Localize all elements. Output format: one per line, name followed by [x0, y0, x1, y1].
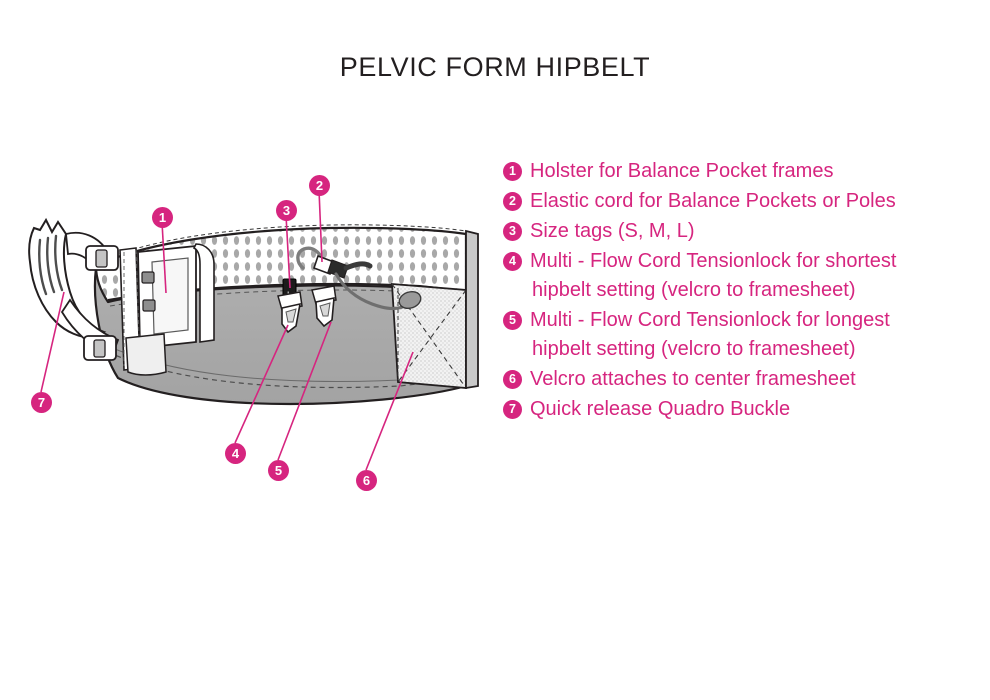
legend-label-1-line1: Holster for Balance Pocket frames: [530, 160, 833, 182]
legend-label-6-line1: Velcro attaches to center framesheet: [530, 368, 856, 390]
legend-item-1[interactable]: 1 Holster for Balance Pocket frames: [503, 157, 973, 186]
legend-label-6: Velcro attaches to center framesheet: [530, 365, 973, 394]
callout-marker-2[interactable]: 2: [309, 175, 330, 196]
legend-item-3[interactable]: 3 Size tags (S, M, L): [503, 217, 973, 246]
hipbelt-right-edge: [466, 231, 478, 388]
legend-label-3-line1: Size tags (S, M, L): [530, 220, 695, 242]
legend-label-1: Holster for Balance Pocket frames: [530, 157, 973, 186]
callout-marker-7[interactable]: 7: [31, 392, 52, 413]
legend-label-7-line1: Quick release Quadro Buckle: [530, 398, 790, 420]
legend-label-4-line1: Multi - Flow Cord Tensionlock for shorte…: [530, 250, 896, 272]
legend-label-5: Multi - Flow Cord Tensionlock for longes…: [530, 306, 973, 364]
legend-item-6[interactable]: 6 Velcro attaches to center framesheet: [503, 365, 973, 394]
legend-item-2[interactable]: 2 Elastic cord for Balance Pockets or Po…: [503, 187, 973, 216]
callout-marker-3[interactable]: 3: [276, 200, 297, 221]
legend-badge-6: 6: [503, 370, 522, 389]
callout-marker-6[interactable]: 6: [356, 470, 377, 491]
hipbelt-illustration: L: [0, 0, 500, 520]
legend-badge-2: 2: [503, 192, 522, 211]
legend-label-4: Multi - Flow Cord Tensionlock for shorte…: [530, 247, 973, 305]
legend-badge-7: 7: [503, 400, 522, 419]
diagram-page: PELVIC FORM HIPBELT: [0, 0, 990, 700]
legend-label-5-line2: hipbelt setting (velcro to framesheet): [530, 335, 973, 364]
legend-item-5[interactable]: 5 Multi - Flow Cord Tensionlock for long…: [503, 306, 973, 364]
legend-label-3: Size tags (S, M, L): [530, 217, 973, 246]
legend-list: 1 Holster for Balance Pocket frames 2 El…: [503, 157, 973, 425]
legend-label-5-line1: Multi - Flow Cord Tensionlock for longes…: [530, 309, 890, 331]
legend-label-7: Quick release Quadro Buckle: [530, 395, 973, 424]
legend-badge-1: 1: [503, 162, 522, 181]
legend-label-2: Elastic cord for Balance Pockets or Pole…: [530, 187, 973, 216]
legend-badge-5: 5: [503, 311, 522, 330]
legend-badge-3: 3: [503, 222, 522, 241]
legend-item-4[interactable]: 4 Multi - Flow Cord Tensionlock for shor…: [503, 247, 973, 305]
callout-marker-1[interactable]: 1: [152, 207, 173, 228]
legend-label-2-line1: Elastic cord for Balance Pockets or Pole…: [530, 190, 896, 212]
callout-marker-5[interactable]: 5: [268, 460, 289, 481]
legend-item-7[interactable]: 7 Quick release Quadro Buckle: [503, 395, 973, 424]
legend-badge-4: 4: [503, 252, 522, 271]
legend-label-4-line2: hipbelt setting (velcro to framesheet): [530, 276, 973, 305]
callout-marker-4[interactable]: 4: [225, 443, 246, 464]
